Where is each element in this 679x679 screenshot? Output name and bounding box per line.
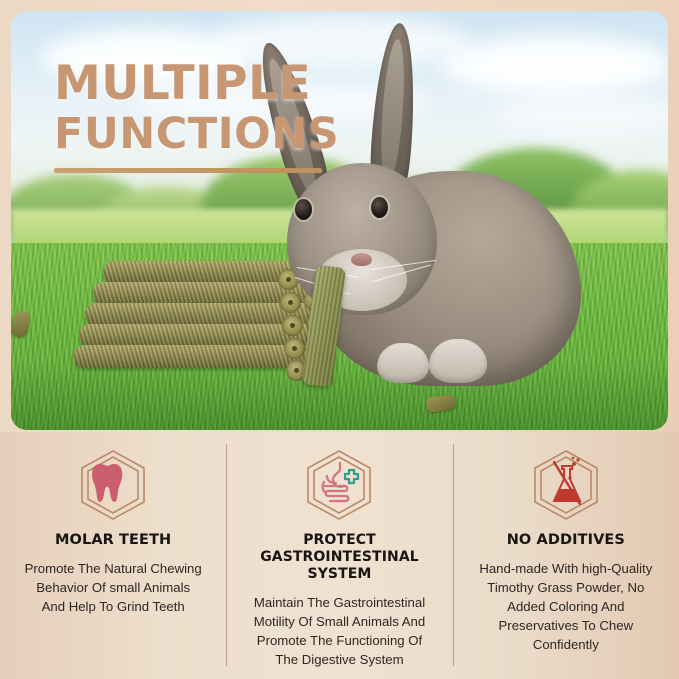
feature-icon-wrap — [10, 446, 216, 524]
feature-title: MOLAR TEETH — [10, 532, 216, 549]
no-additives-flask-icon — [527, 446, 605, 524]
feature-icon-wrap — [463, 446, 669, 524]
product-feature-poster: MULTIPLE FUNCTIONS MOLAR TEETH Promote T… — [0, 0, 679, 679]
feature-molar-teeth: MOLAR TEETH Promote The Natural Chewing … — [0, 432, 226, 679]
headline-line-2: FUNCTIONS — [54, 109, 354, 159]
feature-icon-wrap — [236, 446, 442, 524]
rabbit-paw — [429, 339, 487, 383]
tooth-icon — [74, 446, 152, 524]
feature-title: NO ADDITIVES — [463, 532, 669, 549]
feature-description: Promote The Natural Chewing Behavior Of … — [10, 559, 216, 616]
rabbit-nose — [351, 253, 372, 266]
headline-underline — [54, 168, 322, 173]
feature-title: PROTECT GASTROINTESTINAL SYSTEM — [236, 532, 442, 583]
feature-strip: MOLAR TEETH Promote The Natural Chewing … — [0, 432, 679, 679]
feature-gastrointestinal: PROTECT GASTROINTESTINAL SYSTEM Maintain… — [226, 432, 452, 679]
rabbit-eye-left — [295, 199, 312, 220]
hero-photo: MULTIPLE FUNCTIONS — [11, 11, 668, 430]
feature-description: Hand-made With high-Quality Timothy Gras… — [463, 559, 669, 654]
ear-inner — [378, 38, 408, 184]
headline-line-1: MULTIPLE — [54, 59, 354, 109]
rabbit-paw — [377, 343, 429, 383]
feature-description: Maintain The Gastrointestinal Motility O… — [236, 593, 442, 669]
feature-no-additives: NO ADDITIVES Hand-made With high-Quality… — [453, 432, 679, 679]
gastrointestinal-icon — [300, 446, 378, 524]
rabbit-eye-right — [371, 197, 388, 218]
headline-block: MULTIPLE FUNCTIONS — [54, 59, 354, 173]
